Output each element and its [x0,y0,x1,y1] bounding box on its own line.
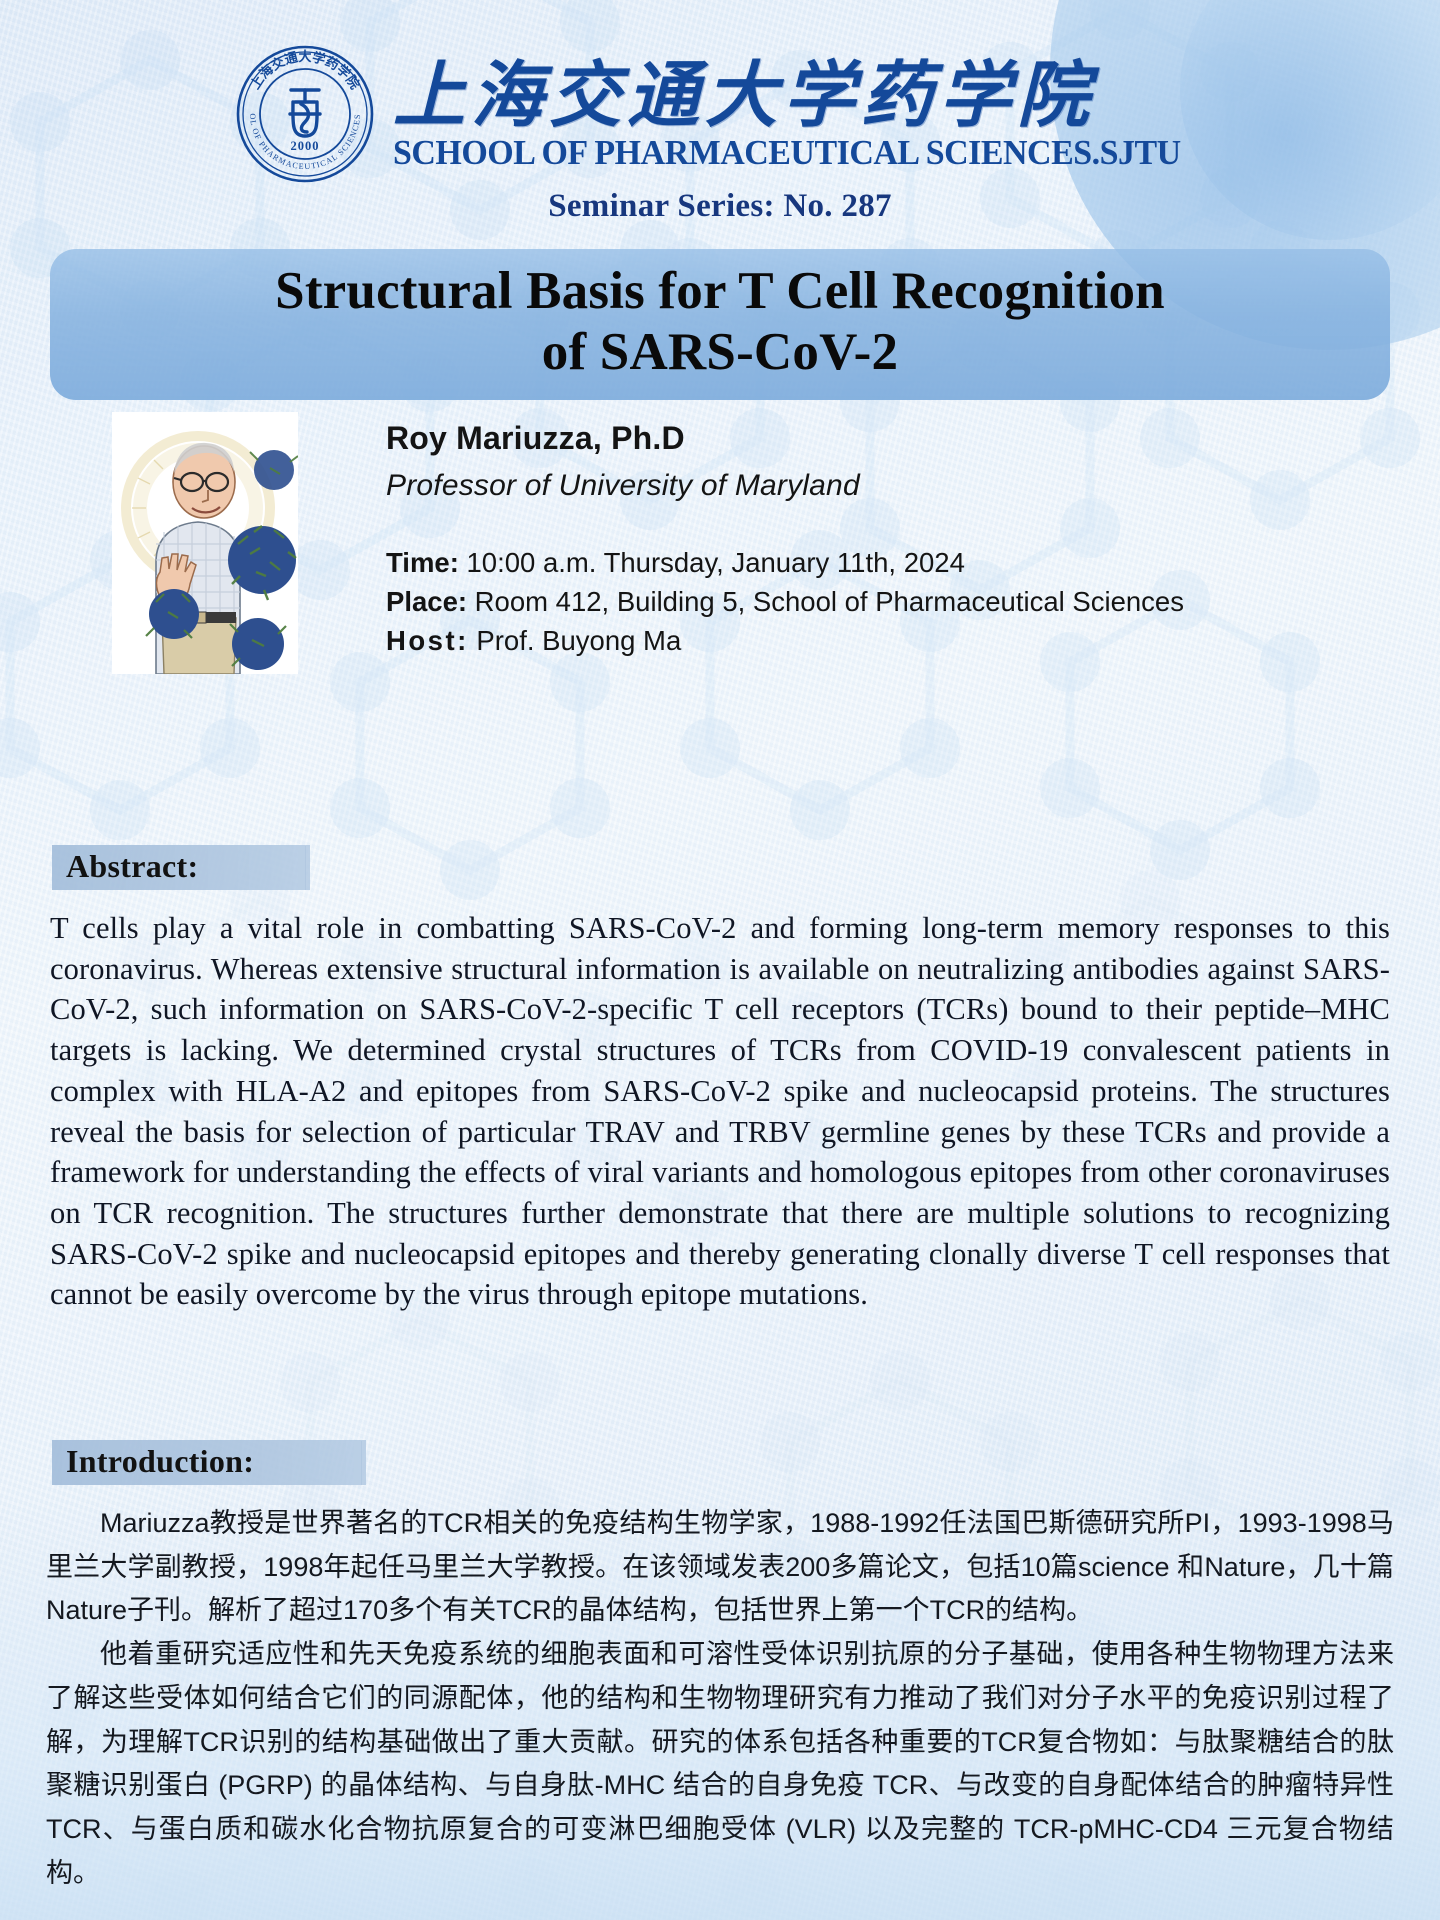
abstract-text: T cells play a vital role in combatting … [50,908,1390,1315]
svg-text:2000: 2000 [290,139,319,153]
speaker-name: Roy Mariuzza, Ph.D [386,420,1184,457]
time-value: 10:00 a.m. Thursday, January 11th, 2024 [467,547,965,578]
introduction-heading-label: Introduction: [66,1443,254,1479]
detail-row-place: Place: Room 412, Building 5, School of P… [386,582,1184,621]
abstract-heading-label: Abstract: [66,848,198,884]
seminar-details: Time: 10:00 a.m. Thursday, January 11th,… [386,543,1184,660]
abstract-heading: Abstract: [52,845,305,890]
title-line-2: of SARS-CoV-2 [275,322,1165,383]
school-seal-icon: 上海交通大学药学院 SCHOOL OF PHARMACEUTICAL SCIEN… [235,44,375,184]
introduction-text: Mariuzza教授是世界著名的TCR相关的免疫结构生物学家，1988-1992… [46,1502,1394,1896]
introduction-heading: Introduction: [52,1440,361,1485]
introduction-heading-band: Introduction: [52,1440,366,1485]
host-value: Prof. Buyong Ma [476,625,681,656]
title-line-1: Structural Basis for T Cell Recognition [275,261,1165,322]
host-label: Host: [386,625,469,656]
seminar-series-label: Seminar Series: No. 287 [0,188,1440,225]
poster-header: 上海交通大学药学院 SCHOOL OF PHARMACEUTICAL SCIEN… [0,34,1440,194]
page-title: Structural Basis for T Cell Recognition … [275,261,1165,384]
title-banner: Structural Basis for T Cell Recognition … [50,249,1390,400]
seminar-poster: 上海交通大学药学院 SCHOOL OF PHARMACEUTICAL SCIEN… [0,0,1440,1920]
detail-row-time: Time: 10:00 a.m. Thursday, January 11th,… [386,543,1184,582]
school-name-block: 上海交通大学药学院 SCHOOL OF PHARMACEUTICAL SCIEN… [393,59,1205,170]
speaker-section: Roy Mariuzza, Ph.D Professor of Universi… [0,412,1440,674]
detail-row-host: Host: Prof. Buyong Ma [386,621,1184,660]
school-name-en: SCHOOL OF PHARMACEUTICAL SCIENCES.SJTU [393,135,1181,170]
svg-text:上海交通大学药学院: 上海交通大学药学院 [248,49,363,92]
place-value: Room 412, Building 5, School of Pharmace… [475,586,1184,617]
introduction-paragraph-1: Mariuzza教授是世界著名的TCR相关的免疫结构生物学家，1988-1992… [46,1502,1394,1633]
speaker-affiliation: Professor of University of Maryland [386,469,1184,503]
abstract-heading-band: Abstract: [52,845,310,890]
introduction-paragraph-2: 他着重研究适应性和先天免疫系统的细胞表面和可溶性受体识别抗原的分子基础，使用各种… [46,1633,1394,1895]
speaker-info: Roy Mariuzza, Ph.D Professor of Universi… [386,412,1184,660]
place-label: Place: [386,586,467,617]
school-name-cn: 上海交通大学药学院 [393,59,1205,131]
speaker-photo [112,412,298,674]
time-label: Time: [386,547,459,578]
